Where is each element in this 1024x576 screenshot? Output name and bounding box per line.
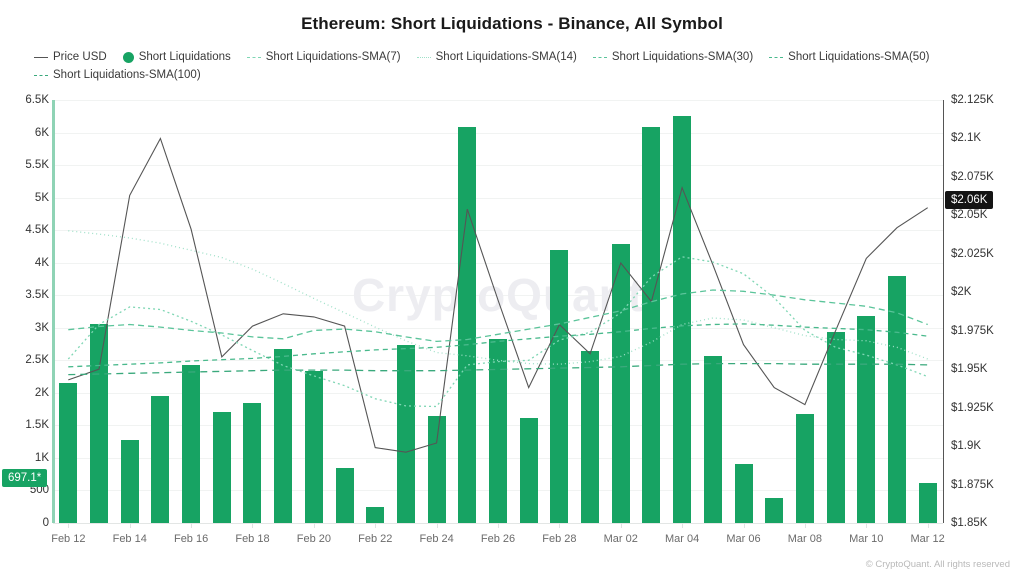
bar[interactable]: [673, 116, 691, 523]
y-axis-right-value-badge: $2.06K: [945, 191, 993, 209]
bar[interactable]: [704, 356, 722, 523]
legend-line-icon: [417, 57, 431, 58]
chart-title: Ethereum: Short Liquidations - Binance, …: [0, 14, 1024, 34]
x-axis-tick-label: Feb 18: [235, 533, 269, 545]
legend-label: Short Liquidations-SMA(50): [788, 51, 929, 63]
x-axis-tick-label: Feb 26: [481, 533, 515, 545]
chart-container: Ethereum: Short Liquidations - Binance, …: [0, 0, 1024, 576]
y-axis-left-tick-label: 0: [3, 517, 49, 529]
legend-label: Short Liquidations: [139, 51, 231, 63]
y-axis-left-line: [52, 100, 55, 523]
y-axis-right-tick-label: $1.975K: [951, 325, 1023, 337]
x-axis-tick-label: Feb 14: [113, 533, 147, 545]
x-tick: [559, 523, 560, 528]
x-tick: [375, 523, 376, 528]
y-axis-left-tick-label: 6.5K: [3, 94, 49, 106]
gridline: [53, 165, 943, 166]
bar[interactable]: [489, 339, 507, 523]
y-axis-right-tick-label: $2K: [951, 286, 1023, 298]
x-tick: [437, 523, 438, 528]
legend-line-icon: [769, 57, 783, 58]
legend-label: Price USD: [53, 51, 107, 63]
bar[interactable]: [796, 414, 814, 523]
copyright-footer: © CryptoQuant. All rights reserved: [866, 559, 1010, 570]
bar[interactable]: [121, 440, 139, 523]
bar[interactable]: [151, 396, 169, 523]
y-axis-right-tick-label: $1.85K: [951, 517, 1023, 529]
x-axis-tick-label: Mar 08: [788, 533, 822, 545]
legend-item-6[interactable]: Short Liquidations-SMA(100): [34, 66, 201, 84]
x-tick: [68, 523, 69, 528]
y-axis-left-tick-label: 3K: [3, 322, 49, 334]
x-tick: [866, 523, 867, 528]
bar[interactable]: [765, 498, 783, 523]
legend-label: Short Liquidations-SMA(30): [612, 51, 753, 63]
bar[interactable]: [336, 468, 354, 523]
x-axis-tick-label: Feb 24: [419, 533, 453, 545]
bar[interactable]: [857, 316, 875, 523]
bar[interactable]: [642, 127, 660, 523]
x-tick: [130, 523, 131, 528]
gridline: [53, 100, 943, 101]
bar[interactable]: [243, 403, 261, 523]
plot-area: CryptoQuant: [53, 100, 943, 523]
legend-item-2[interactable]: Short Liquidations-SMA(7): [247, 48, 401, 66]
bar[interactable]: [90, 324, 108, 523]
x-axis-tick-label: Mar 02: [604, 533, 638, 545]
y-axis-left-tick-label: 1K: [3, 452, 49, 464]
y-axis-right-tick-label: $2.05K: [951, 209, 1023, 221]
gridline: [53, 328, 943, 329]
y-axis-right-line: [943, 100, 945, 523]
y-axis-right-tick-label: $2.1K: [951, 132, 1023, 144]
y-axis-right-tick-label: $1.925K: [951, 402, 1023, 414]
bar[interactable]: [735, 464, 753, 523]
legend-item-3[interactable]: Short Liquidations-SMA(14): [417, 48, 577, 66]
y-axis-right-tick-label: $2.025K: [951, 248, 1023, 260]
x-tick: [191, 523, 192, 528]
y-axis-left-tick-label: 5.5K: [3, 159, 49, 171]
y-axis-right-tick-label: $2.075K: [951, 171, 1023, 183]
y-axis-left-tick-label: 6K: [3, 127, 49, 139]
x-tick: [744, 523, 745, 528]
gridline: [53, 133, 943, 134]
bar[interactable]: [550, 250, 568, 523]
y-axis-left-tick-label: 1.5K: [3, 419, 49, 431]
y-axis-left-tick-label: 5K: [3, 192, 49, 204]
x-tick: [805, 523, 806, 528]
bar[interactable]: [182, 365, 200, 523]
y-axis-left-tick-label: 4.5K: [3, 224, 49, 236]
x-tick: [314, 523, 315, 528]
x-axis-tick-label: Mar 12: [911, 533, 945, 545]
bar[interactable]: [919, 483, 937, 523]
y-axis-right-tick-label: $1.95K: [951, 363, 1023, 375]
x-axis-tick-label: Feb 22: [358, 533, 392, 545]
x-axis-tick-label: Feb 16: [174, 533, 208, 545]
legend-line-icon: [34, 57, 48, 58]
y-axis-left-value-badge: 697.1*: [2, 469, 47, 487]
y-axis-left-tick-label: 2.5K: [3, 354, 49, 366]
y-axis-left-tick-label: 4K: [3, 257, 49, 269]
y-axis-right-tick-label: $1.875K: [951, 479, 1023, 491]
gridline: [53, 295, 943, 296]
bar[interactable]: [520, 418, 538, 523]
x-axis-tick-label: Feb 28: [542, 533, 576, 545]
bar[interactable]: [827, 332, 845, 523]
bar[interactable]: [366, 507, 384, 523]
legend-item-1[interactable]: Short Liquidations: [123, 48, 231, 66]
bar[interactable]: [274, 349, 292, 523]
chart-legend: Price USDShort LiquidationsShort Liquida…: [34, 48, 1004, 84]
legend-line-icon: [247, 57, 261, 58]
legend-line-icon: [34, 75, 48, 76]
legend-label: Short Liquidations-SMA(14): [436, 51, 577, 63]
legend-item-0[interactable]: Price USD: [34, 48, 107, 66]
bar[interactable]: [428, 416, 446, 523]
legend-line-icon: [593, 57, 607, 58]
y-axis-right-tick-label: $1.9K: [951, 440, 1023, 452]
x-axis-tick-label: Mar 10: [849, 533, 883, 545]
gridline: [53, 263, 943, 264]
bar[interactable]: [59, 383, 77, 523]
legend-item-5[interactable]: Short Liquidations-SMA(50): [769, 48, 929, 66]
x-axis-tick-label: Feb 20: [297, 533, 331, 545]
legend-dot-icon: [123, 52, 134, 63]
x-tick: [928, 523, 929, 528]
x-axis-tick-label: Mar 04: [665, 533, 699, 545]
bar[interactable]: [305, 371, 323, 523]
bar[interactable]: [213, 412, 231, 523]
x-tick: [621, 523, 622, 528]
bar[interactable]: [612, 244, 630, 523]
x-axis-tick-label: Mar 06: [726, 533, 760, 545]
bar[interactable]: [581, 351, 599, 523]
legend-label: Short Liquidations-SMA(100): [53, 69, 201, 81]
x-tick: [252, 523, 253, 528]
bar[interactable]: [397, 345, 415, 523]
legend-item-4[interactable]: Short Liquidations-SMA(30): [593, 48, 753, 66]
x-tick: [682, 523, 683, 528]
gridline: [53, 198, 943, 199]
x-axis-tick-label: Feb 12: [51, 533, 85, 545]
bar[interactable]: [458, 127, 476, 523]
bar[interactable]: [888, 276, 906, 523]
y-axis-left-tick-label: 3.5K: [3, 289, 49, 301]
y-axis-left-tick-label: 2K: [3, 387, 49, 399]
x-tick: [498, 523, 499, 528]
legend-label: Short Liquidations-SMA(7): [266, 51, 401, 63]
y-axis-right-tick-label: $2.125K: [951, 94, 1023, 106]
gridline: [53, 230, 943, 231]
